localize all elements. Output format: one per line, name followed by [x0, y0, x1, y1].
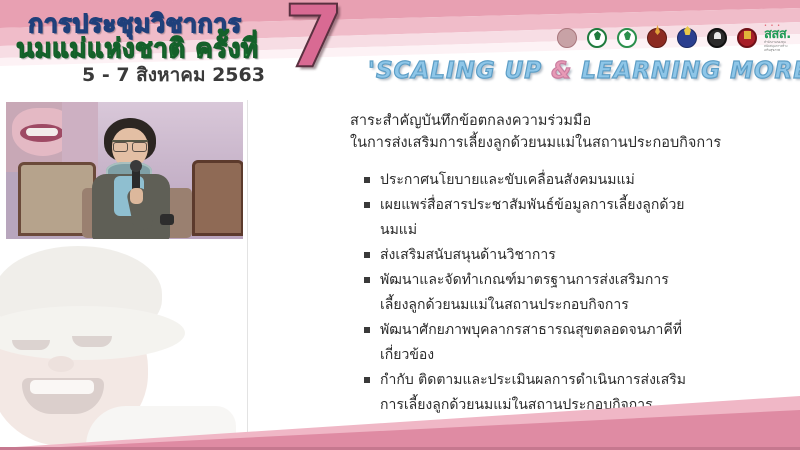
ministry-public-health-logo — [584, 24, 610, 52]
royal-emblem-logo — [554, 24, 580, 52]
sss-logo-text: สสส. — [764, 29, 796, 40]
bullet-square-icon — [364, 252, 370, 258]
bullet-square-icon — [364, 377, 370, 383]
list-item: เผยแพร่สื่อสารประชาสัมพันธ์ข้อมูลการเลี้… — [364, 193, 694, 243]
thaihealth-sss-logo: • • • สสส. สำนักงานกองทุนสนับสนุนการสร้า… — [764, 24, 796, 52]
list-item: ส่งเสริมสนับสนุนด้านวิชาการ — [364, 243, 694, 268]
sss-logo-subtext: สำนักงานกองทุนสนับสนุนการสร้างเสริมสุขภา… — [764, 40, 796, 52]
bullet-square-icon — [364, 202, 370, 208]
bullet-square-icon — [364, 277, 370, 283]
black-seal-logo — [704, 24, 730, 52]
garuda-emblem-logo — [674, 24, 700, 52]
bullet-text: เผยแพร่สื่อสารประชาสัมพันธ์ข้อมูลการเลี้… — [380, 197, 685, 238]
speaker-video-inset[interactable] — [6, 102, 243, 239]
list-item: พัฒนาศักยภาพบุคลากรสาธารณสุขตลอดจนภาคีที… — [364, 318, 694, 368]
list-item: ประกาศนโยบายและขับเคลื่อนสังคมนมแม่ — [364, 168, 694, 193]
speaker-figure — [84, 118, 176, 239]
baby-photo-watermark — [0, 244, 245, 450]
tagline-prefix: 'SCALING UP — [368, 58, 551, 84]
slide-content: สาระสำคัญบันทึกข้อตกลงความร่วมมือ ในการส… — [262, 110, 782, 418]
slide-heading: สาระสำคัญบันทึกข้อตกลงความร่วมมือ ในการส… — [350, 110, 782, 154]
speaker-hand — [130, 188, 143, 204]
list-item: พัฒนาและจัดทำเกณฑ์มาตรฐานการส่งเสริมการเ… — [364, 268, 694, 318]
bullet-text: พัฒนาและจัดทำเกณฑ์มาตรฐานการส่งเสริมการเ… — [380, 272, 669, 313]
baby-nose — [48, 356, 74, 372]
red-seal-logo — [734, 24, 760, 52]
bullet-square-icon — [364, 327, 370, 333]
baby-eye-left — [12, 340, 50, 350]
bullet-text: พัฒนาศักยภาพบุคลากรสาธารณสุขตลอดจนภาคีที… — [380, 322, 682, 363]
bullet-list: ประกาศนโยบายและขับเคลื่อนสังคมนมแม่ เผยแ… — [364, 168, 782, 418]
presentation-slide: การประชุมวิชาการ นมแม่แห่งชาติ ครั้งที่ … — [0, 0, 800, 450]
royal-crown-logo — [644, 24, 670, 52]
heading-line-1: สาระสำคัญบันทึกข้อตกลงความร่วมมือ — [350, 110, 782, 132]
bullet-text: ประกาศนโยบายและขับเคลื่อนสังคมนมแม่ — [380, 172, 635, 188]
conference-date: 5 - 7 สิงหาคม 2563 — [82, 60, 265, 90]
sponsor-logo-strip: • • • สสส. สำนักงานกองทุนสนับสนุนการสร้า… — [554, 24, 796, 52]
baby-eye-right — [72, 336, 112, 347]
slide-body: สาระสำคัญบันทึกข้อตกลงความร่วมมือ ในการส… — [0, 96, 800, 450]
baby-teeth — [30, 380, 94, 394]
bullet-square-icon — [364, 177, 370, 183]
bullet-text: ส่งเสริมสนับสนุนด้านวิชาการ — [380, 247, 556, 263]
content-divider — [247, 100, 248, 450]
tagline-ampersand: & — [551, 58, 572, 84]
health-department-logo — [614, 24, 640, 52]
slide-header: การประชุมวิชาการ นมแม่แห่งชาติ ครั้งที่ … — [0, 0, 800, 96]
baby-hat-brim — [0, 306, 185, 360]
heading-line-2: ในการส่งเสริมการเลี้ยงลูกด้วยนมแม่ในสถาน… — [350, 132, 782, 154]
tagline-suffix: LEARNING MORE' — [572, 58, 800, 84]
remote-clicker-icon — [160, 214, 174, 225]
armchair-right — [192, 160, 243, 236]
glasses-icon — [112, 140, 148, 148]
conference-tagline: 'SCALING UP & LEARNING MORE' — [368, 58, 800, 84]
conference-issue-number: 7 — [284, 0, 344, 80]
